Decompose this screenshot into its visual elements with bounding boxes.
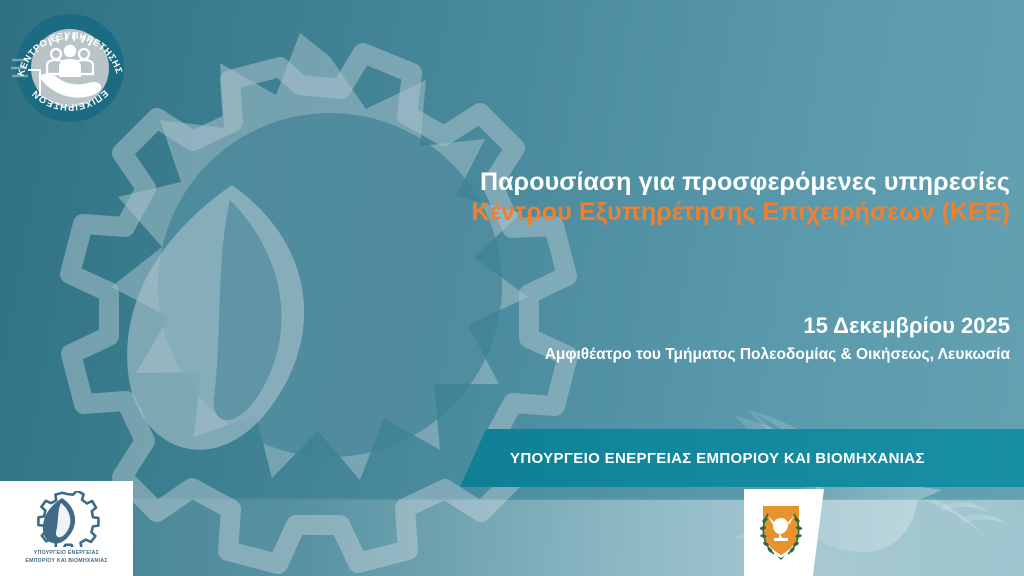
ministry-logo-caption-line2: ΕΜΠΟΡΙΟΥ ΚΑΙ ΒΙΟΜΗΧΑΝΙΑΣ (25, 558, 107, 566)
title-line-sub: Κέντρου Εξυπηρέτησης Επιχειρήσεων (ΚΕΕ) (390, 198, 1010, 228)
event-venue: Αμφιθέατρο του Τμήματος Πολεοδομίας & Οι… (310, 344, 1010, 366)
ministry-banner-text: ΥΠΟΥΡΓΕΙΟ ΕΝΕΡΓΕΙΑΣ ΕΜΠΟΡΙΟΥ ΚΑΙ ΒΙΟΜΗΧΑ… (510, 450, 925, 467)
ministry-logo-caption-line1: ΥΠΟΥΡΓΕΙΟ ΕΝΕΡΓΕΙΑΣ (25, 550, 107, 558)
ministry-logo-card: ΥΠΟΥΡΓΕΙΟ ΕΝΕΡΓΕΙΑΣ ΕΜΠΟΡΙΟΥ ΚΑΙ ΒΙΟΜΗΧΑ… (0, 481, 133, 576)
cyprus-coat-of-arms-icon (752, 498, 810, 568)
title-block: Παρουσίαση για προσφερόμενες υπηρεσίες Κ… (390, 168, 1010, 227)
kee-logo-badge: ΚΕΝΤΡΟ ΕΞΥΠΗΡΕΤΗΣΗΣ ΕΠΙΧΕΙΡΗΣΕΩΝ (6, 4, 134, 132)
event-details: 15 Δεκεμβρίου 2025 Αμφιθέατρο του Τμήματ… (310, 312, 1010, 366)
ministry-banner: ΥΠΟΥΡΓΕΙΟ ΕΝΕΡΓΕΙΑΣ ΕΜΠΟΡΙΟΥ ΚΑΙ ΒΙΟΜΗΧΑ… (460, 429, 1024, 487)
bottom-light-strip (0, 500, 1024, 576)
event-date: 15 Δεκεμβρίου 2025 (310, 312, 1010, 341)
presentation-slide: ΚΕΝΤΡΟ ΕΞΥΠΗΡΕΤΗΣΗΣ ΕΠΙΧΕΙΡΗΣΕΩΝ Παρουσί… (0, 0, 1024, 576)
background-artwork (0, 0, 1024, 576)
title-line-main: Παρουσίαση για προσφερόμενες υπηρεσίες (390, 168, 1010, 198)
ministry-logo-caption: ΥΠΟΥΡΓΕΙΟ ΕΝΕΡΓΕΙΑΣ ΕΜΠΟΡΙΟΥ ΚΑΙ ΒΙΟΜΗΧΑ… (25, 550, 107, 566)
cyprus-emblem-tag (744, 489, 824, 576)
gear-with-leaf-icon (23, 491, 111, 547)
